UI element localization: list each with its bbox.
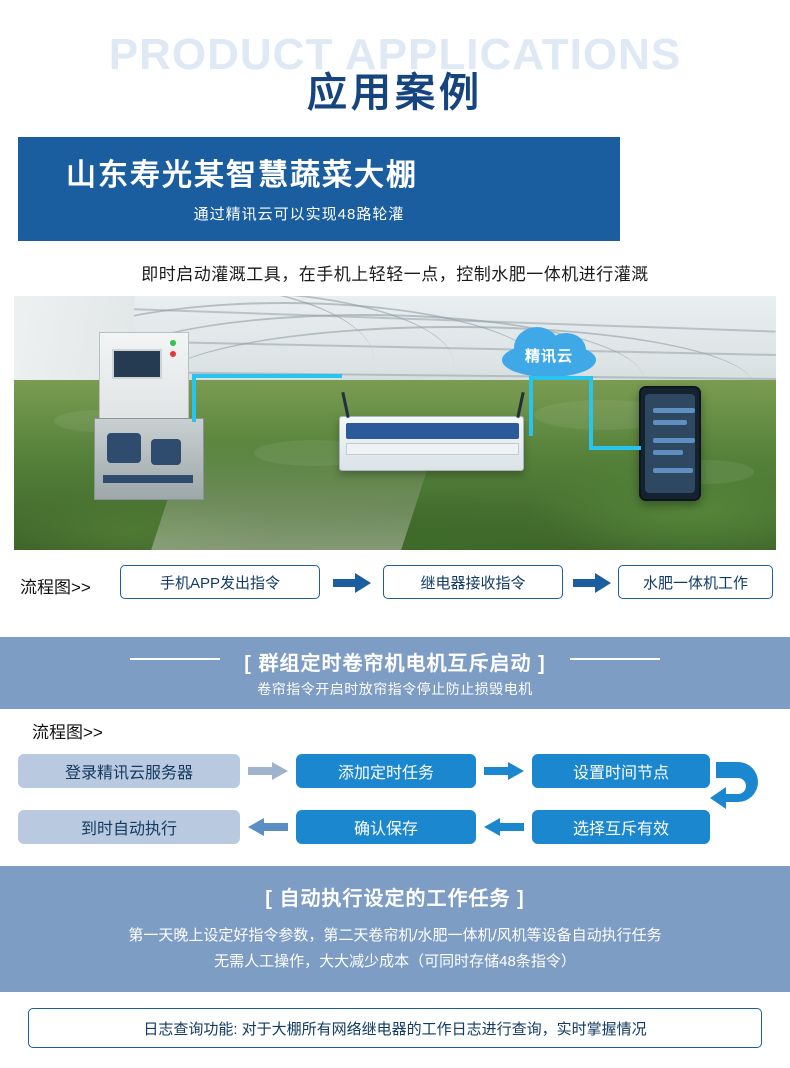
- arrow-right-icon: [573, 573, 611, 593]
- flow2-step-set-time[interactable]: 设置时间节点: [532, 754, 710, 788]
- connection-line: [589, 446, 641, 450]
- flow2-step-confirm-save[interactable]: 确认保存: [296, 810, 476, 844]
- page-header: PRODUCT APPLICATIONS 应用案例: [0, 0, 790, 135]
- arrow-right-icon: [333, 573, 371, 593]
- section3-line-1: 第一天晚上设定好指令参数，第二天卷帘机/水肥一体机/风机等设备自动执行任务: [0, 924, 790, 945]
- relay-terminal-row: [346, 443, 519, 455]
- flow2-step-mutex[interactable]: 选择互斥有效: [532, 810, 710, 844]
- cabinet-screen: [112, 349, 162, 379]
- control-cabinet: [99, 332, 189, 424]
- arrow-right-icon: [248, 762, 288, 780]
- arrow-right-icon: [484, 762, 524, 780]
- case-banner-subtitle: 通过精讯云可以实现48路轮灌: [18, 203, 620, 224]
- network-relay-device: [339, 416, 524, 471]
- log-query-note: 日志查询功能: 对于大棚所有网络继电器的工作日志进行查询，实时掌握情况: [28, 1008, 762, 1048]
- case-banner: 山东寿光某智慧蔬菜大棚 通过精讯云可以实现48路轮灌: [18, 137, 620, 241]
- section2-title: [ 群组定时卷帘机电机互斥启动 ]: [0, 647, 790, 676]
- flow1-step-1[interactable]: 手机APP发出指令: [120, 565, 320, 599]
- smartphone: [639, 386, 701, 501]
- page-root: PRODUCT APPLICATIONS 应用案例 山东寿光某智慧蔬菜大棚 通过…: [0, 0, 790, 1068]
- greenhouse-photo: 精讯云: [14, 296, 776, 550]
- flow-row-1: 流程图>> 手机APP发出指令 继电器接收指令 水肥一体机工作: [0, 565, 790, 610]
- page-title: 应用案例: [0, 60, 790, 118]
- arrow-left-icon: [484, 818, 524, 836]
- flow-label-1: 流程图>>: [20, 573, 91, 598]
- flow-row-2: 流程图>> 登录精讯云服务器 添加定时任务 设置时间节点 到时自动执行 确认保存…: [0, 718, 790, 858]
- section2-band: [ 群组定时卷帘机电机互斥启动 ] 卷帘指令开启时放帘指令停止防止损毁电机: [0, 637, 790, 709]
- loop-arrow-icon: [702, 752, 764, 832]
- section2-subtitle: 卷帘指令开启时放帘指令停止防止损毁电机: [0, 679, 790, 699]
- connection-line: [589, 376, 593, 446]
- case-banner-title: 山东寿光某智慧蔬菜大棚: [18, 150, 620, 194]
- flow2-step-login[interactable]: 登录精讯云服务器: [18, 754, 240, 788]
- flow1-step-3[interactable]: 水肥一体机工作: [618, 565, 773, 599]
- status-led-green: [170, 340, 176, 346]
- flow-label-2: 流程图>>: [32, 718, 103, 743]
- connection-line: [529, 376, 533, 436]
- section3-band: [ 自动执行设定的工作任务 ] 第一天晚上设定好指令参数，第二天卷帘机/水肥一体…: [0, 866, 790, 992]
- cloud-badge: 精讯云: [494, 321, 604, 383]
- connection-line: [192, 374, 342, 378]
- phone-screen: [645, 394, 695, 493]
- section3-title: [ 自动执行设定的工作任务 ]: [0, 882, 790, 911]
- relay-faceplate: [346, 423, 519, 439]
- connection-line: [192, 374, 196, 422]
- section3-line-2: 无需人工操作，大大减少成本（可同时存储48条指令）: [0, 950, 790, 971]
- cloud-label: 精讯云: [494, 345, 604, 366]
- status-led-red: [170, 351, 176, 357]
- arrow-left-icon: [248, 818, 288, 836]
- photo-caption: 即时启动灌溉工具，在手机上轻轻一点，控制水肥一体机进行灌溉: [0, 260, 790, 285]
- flow1-step-2[interactable]: 继电器接收指令: [383, 565, 563, 599]
- flow2-step-auto-exec[interactable]: 到时自动执行: [18, 810, 240, 844]
- connection-line: [529, 376, 589, 380]
- flow2-step-add-task[interactable]: 添加定时任务: [296, 754, 476, 788]
- fertigation-machine: [94, 418, 204, 500]
